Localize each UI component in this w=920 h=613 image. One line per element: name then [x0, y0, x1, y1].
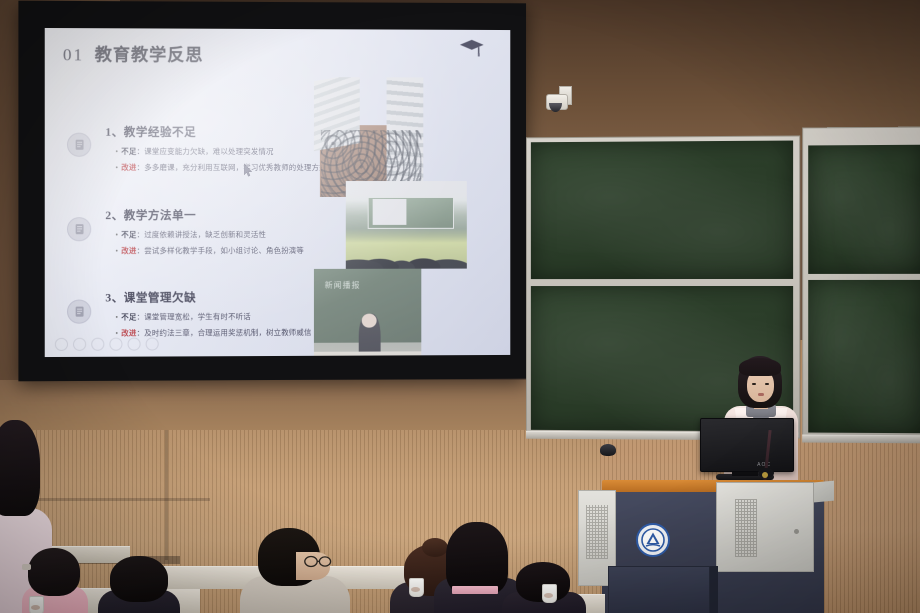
chalkboard-panel [531, 141, 793, 280]
mouse-cursor [244, 164, 253, 177]
person-hair [28, 548, 80, 596]
person-hair [446, 522, 508, 594]
classroom-screen [372, 199, 406, 225]
circle-icon [55, 338, 68, 351]
audience-member-dark-hair [96, 556, 182, 613]
speaker-grille [586, 505, 608, 559]
bullet-text: 过度依赖讲授法，缺乏创新和灵活性 [144, 230, 266, 239]
circle-icon [109, 338, 122, 351]
student-face [361, 313, 376, 328]
bullet-dot-icon: • [115, 163, 118, 172]
presenter-eye [752, 383, 756, 385]
slide-title-text: 教育教学反思 [95, 45, 204, 64]
aerial-schoolyard-photo [314, 77, 423, 197]
wall-seam [165, 430, 168, 560]
person-hair [0, 420, 40, 516]
graduation-cap-icon [459, 38, 485, 63]
circle-icon [91, 338, 104, 351]
chalkboard-panel [808, 145, 920, 274]
hair-clip [22, 564, 31, 570]
slide-section-2: 2、教学方法单一 •不足：过度依赖讲授法，缺乏创新和灵活性 •改进：尝试多样化教… [105, 207, 304, 256]
slide-section-3: 3、课堂管理欠缺 •不足：课堂管理宽松，学生有时不听话 •改进：及时约法三章，合… [105, 289, 311, 339]
student-heads [346, 228, 467, 269]
blackboard-caption: 新闻播报 [325, 280, 361, 291]
teacher-blackboard-photo: 新闻播报 [314, 269, 421, 357]
slide-section-number: 01 [63, 45, 84, 64]
panel-button[interactable] [794, 529, 799, 534]
board-knob[interactable] [600, 444, 616, 456]
speaker-grille [735, 499, 757, 557]
bullet-dot-icon: • [115, 230, 118, 239]
bullet-label: 改进 [121, 246, 136, 255]
bullet-text: 尝试多样化教学手段，如小组讨论、角色扮演等 [144, 246, 304, 255]
paper-cup[interactable] [29, 596, 44, 613]
person-hair [110, 556, 168, 602]
bullet-dot-icon: • [115, 246, 118, 255]
section-heading: 1、教学经验不足 [105, 124, 326, 140]
bullet-dot-icon: • [115, 147, 118, 156]
slide-section-1: 1、教学经验不足 •不足：课堂应变能力欠缺，难以处理突发情况 •改进：多多磨课，… [105, 124, 326, 173]
school-emblem-logo [636, 523, 670, 557]
book-badge-icon [67, 217, 91, 241]
section-bullet: •不足：课堂管理宽松，学生有时不听话 [115, 311, 311, 323]
bullet-label: 不足 [121, 147, 136, 156]
lectern [578, 478, 846, 613]
classroom-desks [314, 351, 421, 357]
presenter-fringe [739, 358, 781, 376]
camera-dome-lens [549, 103, 562, 112]
lectern-cabinet-gap [710, 566, 718, 613]
slide-watermark-icons [55, 337, 159, 350]
circle-icon [146, 337, 159, 350]
bullet-text: 及时约法三章，合理运用奖惩机制，树立教师威信 [144, 328, 311, 338]
lectern-control-panel[interactable] [716, 482, 814, 572]
audience-member-man-glasses [240, 528, 352, 613]
projected-slide[interactable]: 01 教育教学反思 1、教学经验不足 •不足：课堂应变能力欠缺，难以处理突发情况 [45, 28, 511, 357]
paper-cup[interactable] [542, 584, 557, 603]
section-bullet: •不足：课堂应变能力欠缺，难以处理突发情况 [115, 146, 326, 157]
bullet-label: 不足 [121, 312, 136, 321]
presenter-mouth [758, 393, 764, 396]
projection-screen-frame: 01 教育教学反思 1、教学经验不足 •不足：课堂应变能力欠缺，难以处理突发情况 [18, 1, 526, 382]
slide-title: 01 教育教学反思 [63, 40, 203, 66]
paper-cup[interactable] [409, 578, 424, 597]
bullet-dot-icon: • [115, 329, 118, 338]
pink-notebook[interactable] [452, 586, 498, 594]
lectern-cabinet-door[interactable] [608, 566, 710, 613]
book-badge-icon [67, 300, 91, 324]
desktop-monitor[interactable]: AOC [700, 418, 794, 472]
microphone-indicator [762, 472, 768, 478]
classroom-students-photo [346, 181, 467, 269]
book-badge-icon [67, 133, 91, 157]
lecture-hall-scene: 01 教育教学反思 1、教学经验不足 •不足：课堂应变能力欠缺，难以处理突发情况 [0, 0, 920, 613]
chalk-rail [802, 435, 920, 444]
circle-icon [128, 338, 141, 351]
section-heading: 2、教学方法单一 [105, 207, 304, 223]
bullet-text: 课堂应变能力欠缺，难以处理突发情况 [144, 147, 273, 156]
chalkboard-panel [808, 280, 920, 433]
circle-icon [73, 338, 86, 351]
bullet-text: 课堂管理宽松，学生有时不听话 [144, 312, 251, 321]
bullet-text: 多多磨课，充分利用互联网，学习优秀教师的处理方式 [144, 163, 326, 172]
section-bullet: •改进：尝试多样化教学手段，如小组讨论、角色扮演等 [115, 245, 304, 256]
bullet-label: 改进 [121, 163, 136, 172]
section-bullet: •不足：过度依赖讲授法，缺乏创新和灵活性 [115, 229, 304, 240]
presenter-eye [765, 383, 769, 385]
section-bullet: •改进：多多磨课，充分利用互联网，学习优秀教师的处理方式 [115, 162, 326, 173]
bullet-dot-icon: • [115, 313, 118, 322]
dome-security-camera [546, 86, 572, 116]
bullet-label: 改进 [121, 329, 136, 338]
section-heading: 3、课堂管理欠缺 [105, 289, 311, 306]
glasses-icon [304, 555, 332, 573]
bullet-label: 不足 [121, 230, 136, 239]
